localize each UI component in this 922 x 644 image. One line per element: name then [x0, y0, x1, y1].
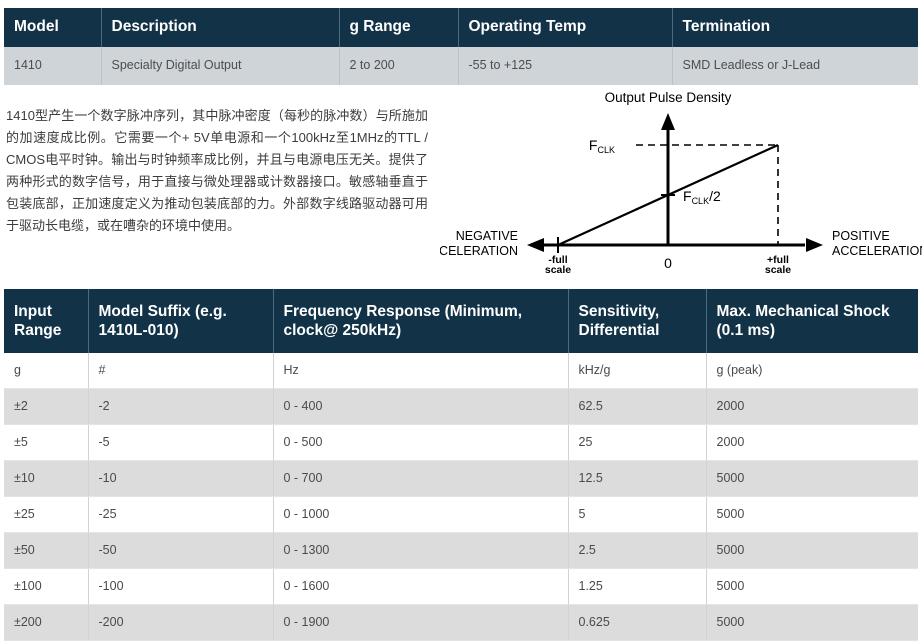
svg-text:FCLK: FCLK: [589, 137, 615, 155]
diagram-negative-acceleration-label-line2: ACCELERATION: [440, 244, 518, 258]
cell-model-suffix: -5: [88, 425, 273, 461]
diagram-y-axis-title: Output Pulse Density: [605, 90, 732, 105]
diagram-positive-acceleration-label-line2: ACCELERATION: [832, 244, 922, 258]
cell-input-range: ±50: [4, 533, 88, 569]
cell-model-suffix: -25: [88, 497, 273, 533]
cell-input-range: ±25: [4, 497, 88, 533]
ranges-table-header-row: Input Range Model Suffix (e.g. 1410L-010…: [4, 289, 918, 353]
diagram-label-fclk-subscript: CLK: [597, 145, 615, 155]
cell-max-mechanical-shock: 5000: [706, 605, 918, 641]
cell-input-range: ±2: [4, 389, 88, 425]
cell-model-suffix: -50: [88, 533, 273, 569]
overview-header-g-range: g Range: [339, 8, 458, 47]
cell-input-range: ±100: [4, 569, 88, 605]
overview-cell-model: 1410: [4, 47, 101, 85]
diagram-label-fclk: F: [589, 137, 598, 153]
cell-sensitivity: 25: [568, 425, 706, 461]
overview-cell-description: Specialty Digital Output: [101, 47, 339, 85]
cell-sensitivity: 5: [568, 497, 706, 533]
description-and-diagram-section: 1410型产生一个数字脉冲序列，其中脉冲密度（每秒的脉冲数）与所施加的加速度成比…: [0, 88, 922, 280]
overview-header-termination: Termination: [672, 8, 918, 47]
cell-sensitivity: 2.5: [568, 533, 706, 569]
diagram-label-fclk-half-suffix: /2: [709, 188, 721, 204]
ranges-header-frequency-response: Frequency Response (Minimum, clock@ 250k…: [273, 289, 568, 353]
units-cell-model-suffix: #: [88, 353, 273, 389]
cell-input-range: ±10: [4, 461, 88, 497]
table-row: ±10 -10 0 - 700 12.5 5000: [4, 461, 918, 497]
cell-frequency-response: 0 - 1600: [273, 569, 568, 605]
table-row: ±2 -2 0 - 400 62.5 2000: [4, 389, 918, 425]
svg-text:FCLK/2: FCLK/2: [683, 188, 721, 206]
cell-sensitivity: 12.5: [568, 461, 706, 497]
cell-model-suffix: -100: [88, 569, 273, 605]
diagram-tick-pos-full-scale-line2: scale: [765, 264, 791, 276]
cell-model-suffix: -2: [88, 389, 273, 425]
diagram-tick-neg-full-scale-line2: scale: [545, 264, 571, 276]
diagram-label-fclk-half: F: [683, 188, 692, 204]
table-row: 1410 Specialty Digital Output 2 to 200 -…: [4, 47, 918, 85]
diagram-negative-acceleration-label-line1: NEGATIVE: [456, 229, 518, 243]
table-row: ±25 -25 0 - 1000 5 5000: [4, 497, 918, 533]
cell-sensitivity: 62.5: [568, 389, 706, 425]
table-row: ±100 -100 0 - 1600 1.25 5000: [4, 569, 918, 605]
overview-table-header-row: Model Description g Range Operating Temp…: [4, 8, 918, 47]
cell-max-mechanical-shock: 5000: [706, 533, 918, 569]
ranges-header-max-mechanical-shock: Max. Mechanical Shock (0.1 ms): [706, 289, 918, 353]
ranges-header-model-suffix: Model Suffix (e.g. 1410L-010): [88, 289, 273, 353]
ranges-header-sensitivity: Sensitivity, Differential: [568, 289, 706, 353]
cell-max-mechanical-shock: 2000: [706, 425, 918, 461]
overview-table: Model Description g Range Operating Temp…: [4, 8, 918, 85]
overview-header-model: Model: [4, 8, 101, 47]
table-row: ±5 -5 0 - 500 25 2000: [4, 425, 918, 461]
cell-frequency-response: 0 - 1300: [273, 533, 568, 569]
overview-header-description: Description: [101, 8, 339, 47]
units-cell-input-range: g: [4, 353, 88, 389]
output-pulse-density-diagram: Output Pulse Density FCLK FCLK/2 NEGATIV…: [440, 88, 922, 280]
cell-max-mechanical-shock: 5000: [706, 569, 918, 605]
table-row: ±50 -50 0 - 1300 2.5 5000: [4, 533, 918, 569]
units-cell-max-mechanical-shock: g (peak): [706, 353, 918, 389]
cell-frequency-response: 0 - 400: [273, 389, 568, 425]
overview-cell-termination: SMD Leadless or J-Lead: [672, 47, 918, 85]
cell-input-range: ±5: [4, 425, 88, 461]
cell-frequency-response: 0 - 1000: [273, 497, 568, 533]
cell-frequency-response: 0 - 700: [273, 461, 568, 497]
table-row: ±200 -200 0 - 1900 0.625 5000: [4, 605, 918, 641]
diagram-label-fclk-half-subscript: CLK: [692, 196, 710, 206]
cell-max-mechanical-shock: 5000: [706, 497, 918, 533]
overview-cell-g-range: 2 to 200: [339, 47, 458, 85]
ranges-header-input-range: Input Range: [4, 289, 88, 353]
cell-model-suffix: -10: [88, 461, 273, 497]
cell-max-mechanical-shock: 5000: [706, 461, 918, 497]
units-cell-sensitivity: kHz/g: [568, 353, 706, 389]
cell-model-suffix: -200: [88, 605, 273, 641]
cell-frequency-response: 0 - 1900: [273, 605, 568, 641]
overview-cell-operating-temp: -55 to +125: [458, 47, 672, 85]
overview-header-operating-temp: Operating Temp: [458, 8, 672, 47]
cell-sensitivity: 0.625: [568, 605, 706, 641]
diagram-tick-origin: 0: [664, 255, 672, 271]
units-row: g # Hz kHz/g g (peak): [4, 353, 918, 389]
units-cell-frequency-response: Hz: [273, 353, 568, 389]
cell-sensitivity: 1.25: [568, 569, 706, 605]
cell-max-mechanical-shock: 2000: [706, 389, 918, 425]
diagram-positive-acceleration-label-line1: POSITIVE: [832, 229, 890, 243]
product-description-text: 1410型产生一个数字脉冲序列，其中脉冲密度（每秒的脉冲数）与所施加的加速度成比…: [6, 105, 428, 237]
cell-frequency-response: 0 - 500: [273, 425, 568, 461]
cell-input-range: ±200: [4, 605, 88, 641]
input-ranges-table: Input Range Model Suffix (e.g. 1410L-010…: [4, 289, 918, 641]
